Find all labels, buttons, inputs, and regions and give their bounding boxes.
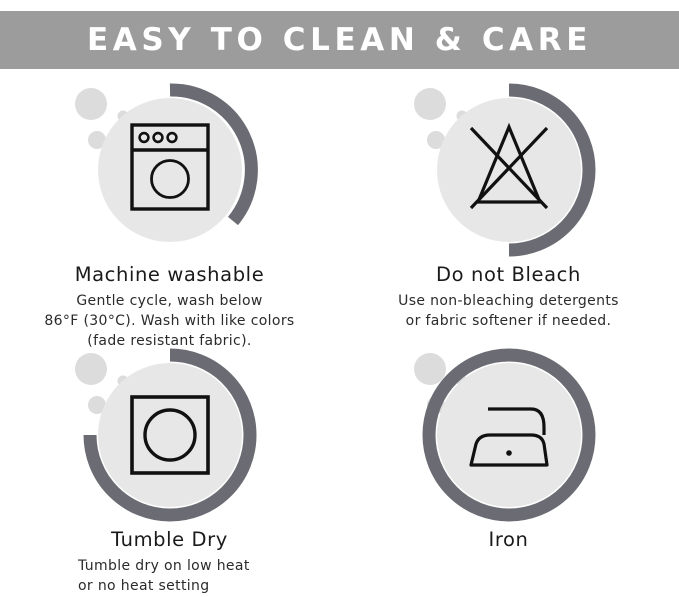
body-line: Gentle cycle, wash below	[6, 292, 333, 312]
badge-disc	[98, 98, 242, 242]
header-banner: EASY TO CLEAN & CARE	[0, 11, 679, 69]
infographic-page: { "banner": { "title": "EASY TO CLEAN & …	[0, 0, 679, 593]
body-line: Use non-bleaching detergents	[345, 292, 672, 312]
care-card-tumble-dry: Tumble Dry Tumble dry on low heat or no …	[0, 343, 339, 597]
care-card-machine-washable: Machine washable Gentle cycle, wash belo…	[0, 78, 339, 352]
body-line: Tumble dry on low heat	[78, 557, 333, 577]
care-card-iron: Iron	[339, 343, 678, 557]
card-title: Do not Bleach	[345, 263, 672, 287]
bubble-large-icon	[414, 353, 446, 385]
page-title: EASY TO CLEAN & CARE	[87, 25, 592, 56]
washing-machine-icon	[70, 78, 270, 263]
bubble-large-icon	[75, 88, 107, 120]
bubble-large-icon	[414, 88, 446, 120]
card-text-iron: Iron	[339, 528, 678, 552]
bubble-large-icon	[75, 353, 107, 385]
care-card-do-not-bleach: Do not Bleach Use non-bleaching detergen…	[339, 78, 678, 332]
care-instructions-grid: Machine washable Gentle cycle, wash belo…	[0, 78, 679, 593]
do-not-bleach-badge	[409, 78, 609, 263]
tumble-dry-badge	[70, 343, 270, 528]
card-title: Tumble Dry	[6, 528, 333, 552]
card-body: Tumble dry on low heat or no heat settin…	[6, 557, 333, 597]
card-title: Iron	[345, 528, 672, 552]
tumble-dry-icon	[70, 343, 270, 528]
card-title: Machine washable	[6, 263, 333, 287]
card-text-machine-washable: Machine washable Gentle cycle, wash belo…	[0, 263, 339, 352]
body-line: 86°F (30°C). Wash with like colors	[6, 312, 333, 332]
do-not-bleach-icon	[409, 78, 609, 263]
badge-disc	[98, 363, 242, 507]
iron-badge	[409, 343, 609, 528]
body-line: or fabric softener if needed.	[345, 312, 672, 332]
washing-machine-badge	[70, 78, 270, 263]
card-body: Use non-bleaching detergents or fabric s…	[345, 292, 672, 332]
card-text-tumble-dry: Tumble Dry Tumble dry on low heat or no …	[0, 528, 339, 597]
card-text-do-not-bleach: Do not Bleach Use non-bleaching detergen…	[339, 263, 678, 332]
body-line: or no heat setting	[78, 577, 333, 597]
iron-icon	[409, 343, 609, 528]
iron-dot-icon	[506, 450, 512, 456]
